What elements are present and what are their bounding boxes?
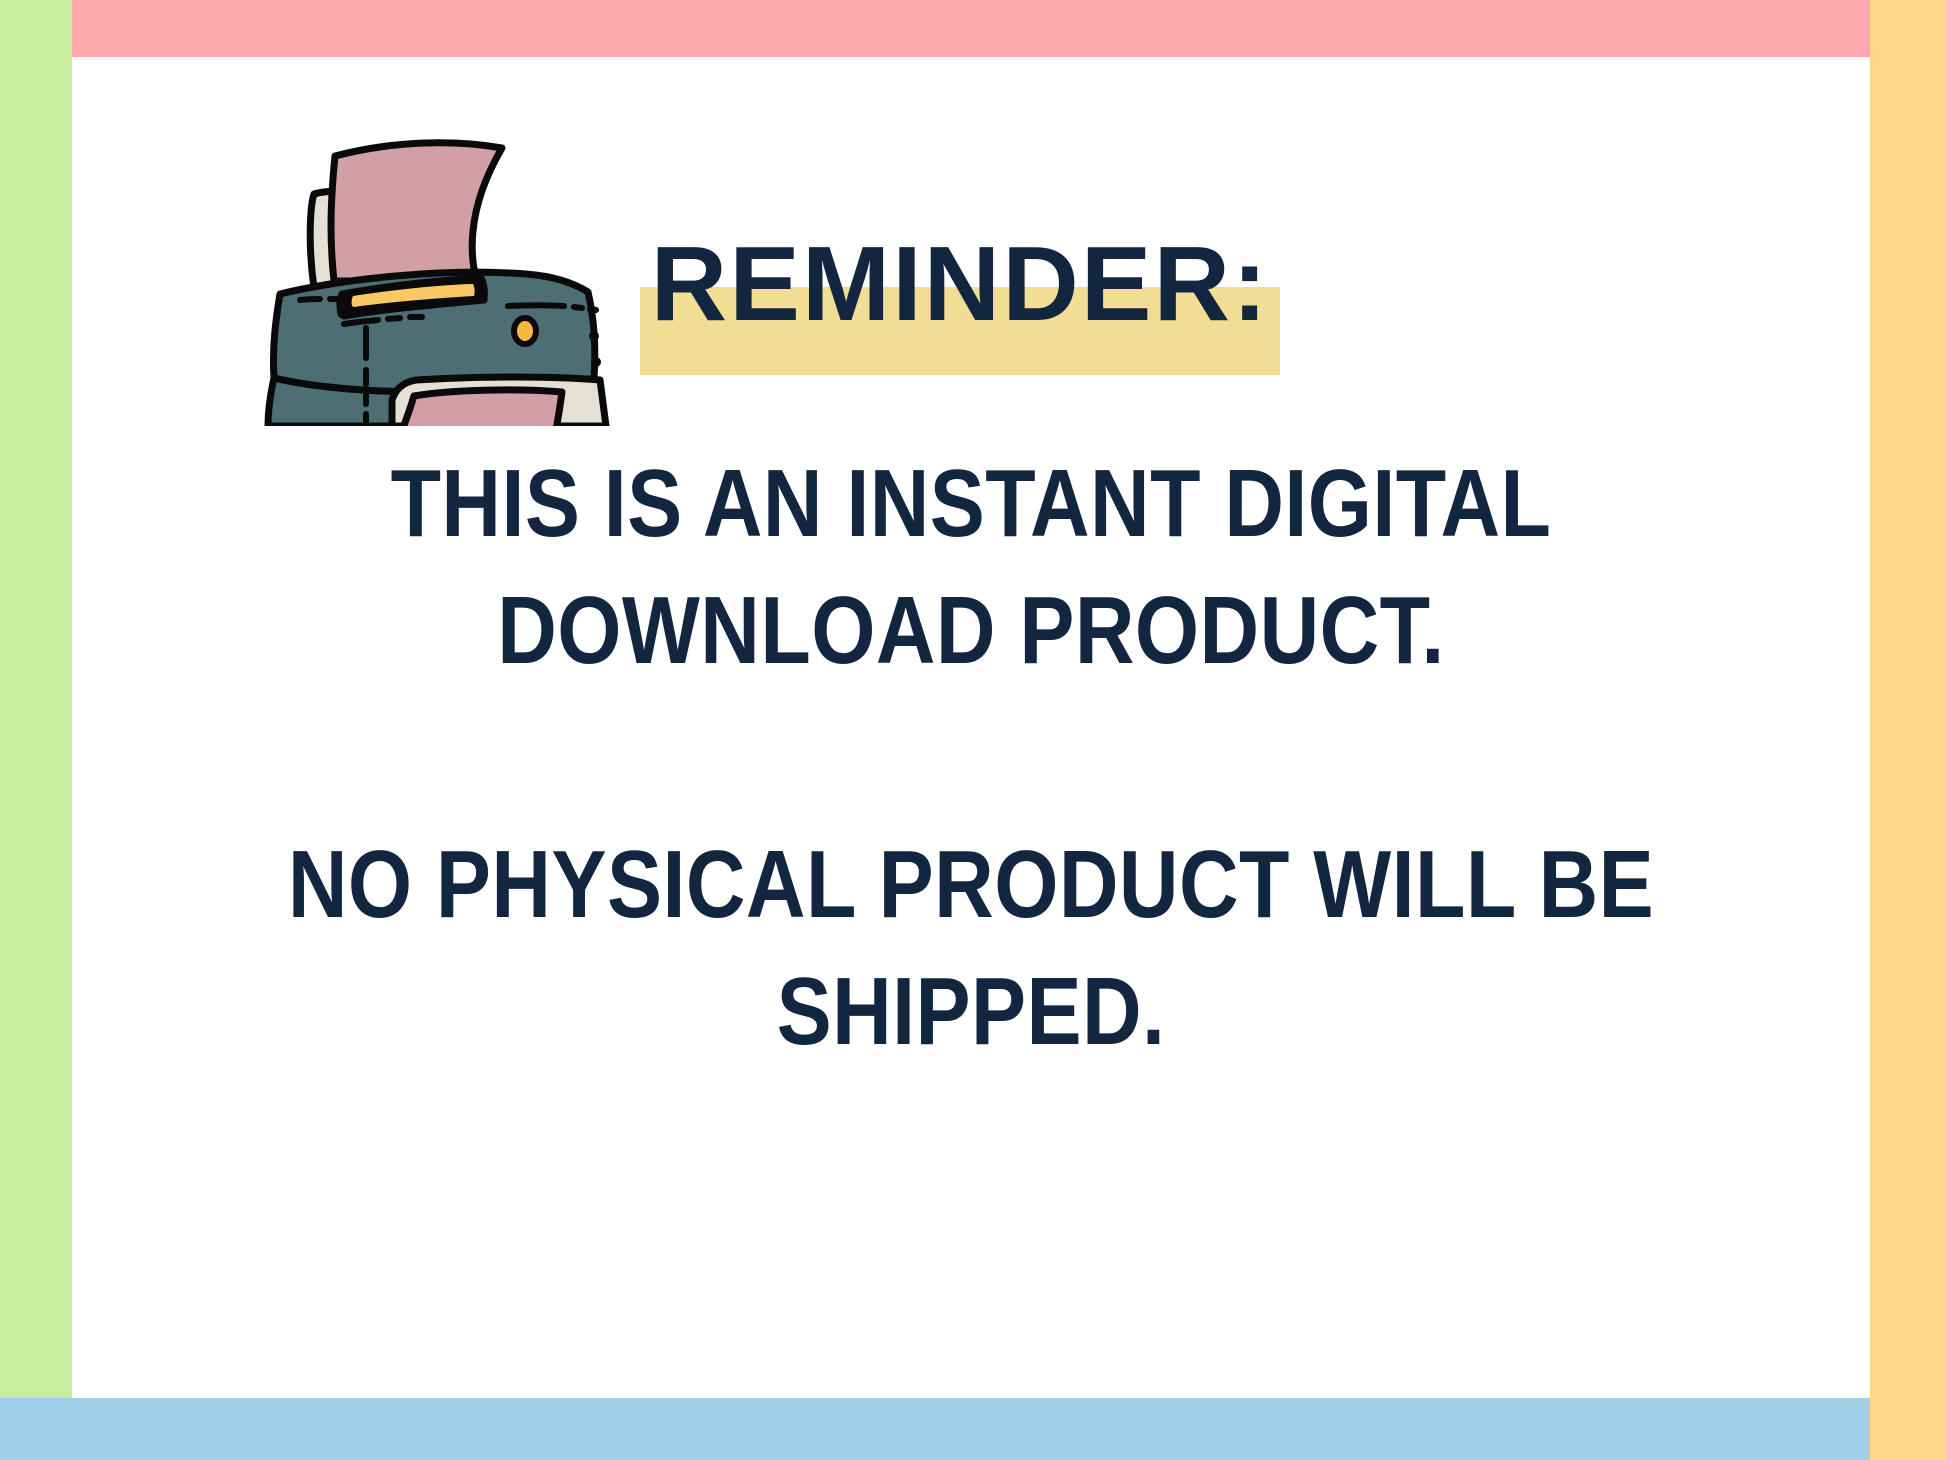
top-pink-bar <box>72 0 1946 57</box>
body-paragraph-1: THIS IS AN INSTANT DIGITAL DOWNLOAD PROD… <box>198 440 1744 694</box>
right-yellow-bar <box>1870 0 1946 1460</box>
left-green-bar <box>0 0 72 1398</box>
headline-block: REMINDER: <box>640 225 1280 375</box>
poster-canvas: REMINDER: THIS IS AN INSTANT DIGITAL DOW… <box>0 0 1946 1460</box>
printer-paper-pink-top <box>331 143 502 281</box>
bottom-blue-bar <box>0 1398 1870 1460</box>
body-copy: THIS IS AN INSTANT DIGITAL DOWNLOAD PROD… <box>72 440 1870 1075</box>
printer-dot-upper <box>589 331 599 341</box>
printer-led-icon <box>514 318 536 344</box>
printer-dot-lower <box>591 357 601 367</box>
body-paragraph-2: NO PHYSICAL PRODUCT WILL BE SHIPPED. <box>198 821 1744 1075</box>
page-title: REMINDER: <box>640 225 1280 343</box>
printer-illustration <box>196 96 616 426</box>
